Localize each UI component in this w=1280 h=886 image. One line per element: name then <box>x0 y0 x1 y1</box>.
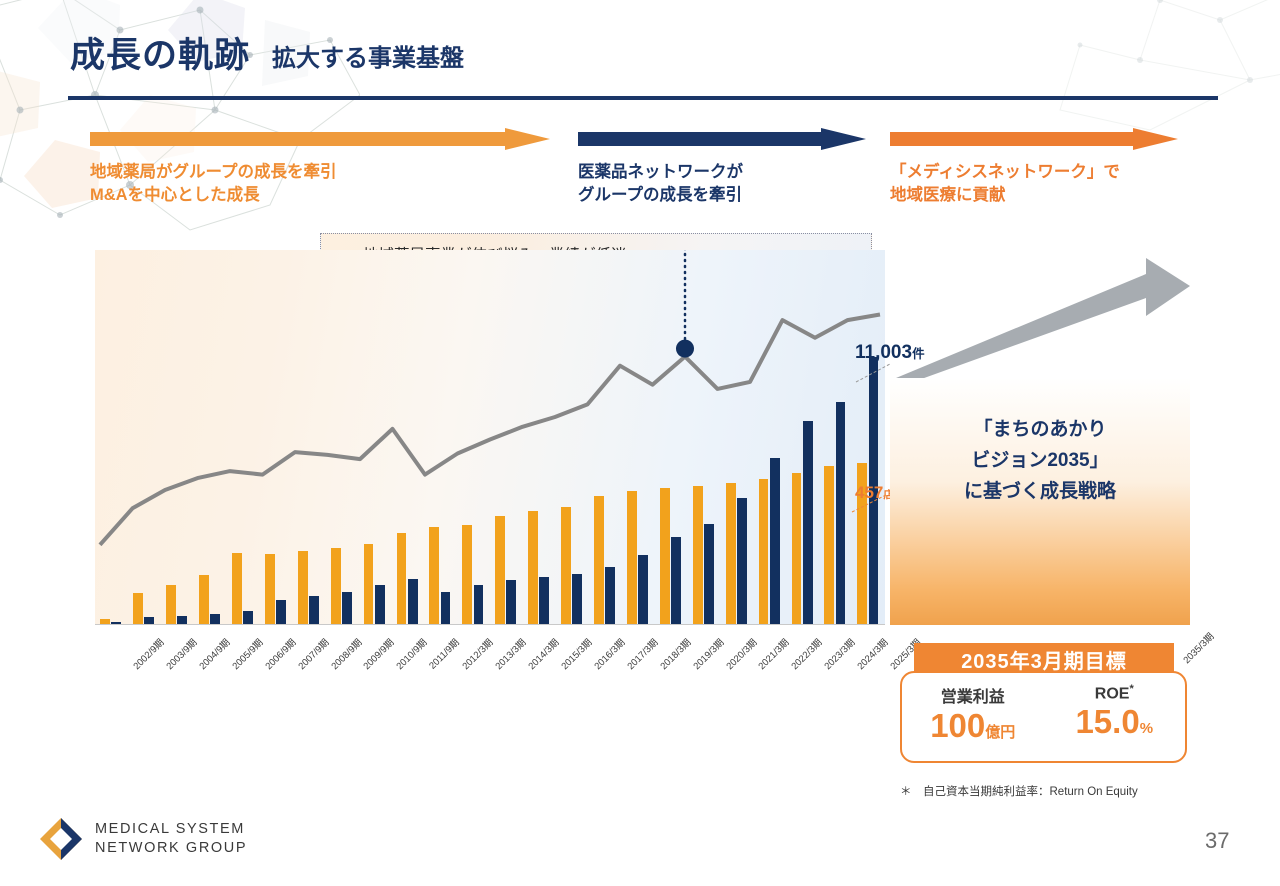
page-number: 37 <box>1205 828 1229 854</box>
x-axis-label: 2002/9期 <box>129 635 166 672</box>
target-metric-operating-profit: 営業利益 100億円 <box>902 673 1044 761</box>
x-axis-label: 2021/3期 <box>755 635 792 672</box>
x-axis-label: 2010/9期 <box>393 635 430 672</box>
x-axis-label: 2019/3期 <box>689 635 726 672</box>
x-axis-label: 2004/9期 <box>195 635 232 672</box>
x-axis-label: 2005/9期 <box>228 635 265 672</box>
x-axis-label: 2022/3期 <box>788 635 825 672</box>
decorative-network-pattern-right <box>1020 0 1280 140</box>
target-metric-asterisk: * <box>1129 683 1133 695</box>
diamond-logo-icon <box>38 816 84 862</box>
growth-chart <box>95 250 885 625</box>
page-title: 成長の軌跡 <box>70 38 250 73</box>
x-axis-label: 2024/3期 <box>853 635 890 672</box>
x-axis-label: 2023/3期 <box>821 635 858 672</box>
target-box: 2035年3月期目標 営業利益 100億円 ROE* 15.0% <box>900 643 1187 763</box>
page-header: 成長の軌跡 拡大する事業基盤 <box>70 38 464 73</box>
phase-block-3: 「メディシスネットワーク」で 地域医療に貢献 <box>890 128 1178 207</box>
target-metric-roe: ROE* 15.0% <box>1044 673 1186 761</box>
company-logo: MEDICAL SYSTEM NETWORK GROUP <box>38 816 247 862</box>
phase-label-3: 「メディシスネットワーク」で 地域医療に貢献 <box>890 161 1178 207</box>
x-axis-label: 2011/9期 <box>425 635 462 672</box>
phase-label-2: 医薬品ネットワークが グループの成長を牽引 <box>578 161 866 207</box>
x-axis-label: 2013/3期 <box>491 635 528 672</box>
x-axis-label: 2014/3期 <box>524 635 561 672</box>
phase-arrow-3 <box>890 128 1178 150</box>
x-axis-label: 2003/9期 <box>162 635 199 672</box>
target-footnote: ＊ 自己資本当期純利益率：Return On Equity <box>900 783 1138 799</box>
target-body: 営業利益 100億円 ROE* 15.0% <box>900 671 1187 763</box>
target-metric-unit: % <box>1140 720 1153 737</box>
x-axis-label: 2020/3期 <box>722 635 759 672</box>
phase-label-1: 地域薬局がグループの成長を牽引 M&Aを中心とした成長 <box>90 161 550 207</box>
x-axis-label: 2012/3期 <box>458 635 495 672</box>
target-metric-label: ROE* <box>1044 683 1186 703</box>
target-metric-number: 15.0 <box>1075 703 1139 740</box>
x-axis-label: 2009/9期 <box>360 635 397 672</box>
target-metric-value: 100億円 <box>902 709 1044 744</box>
growth-arrow-icon <box>888 250 1198 385</box>
slide-root: 成長の軌跡 拡大する事業基盤 地域薬局がグループの成長を牽引 M&Aを中心とした… <box>0 0 1280 886</box>
target-metric-label-text: ROE <box>1095 685 1130 702</box>
phase-arrow-2 <box>578 128 866 150</box>
target-metric-value: 15.0% <box>1044 705 1186 740</box>
chart-x-axis-labels: 2002/9期2003/9期2004/9期2005/9期2006/9期2007/… <box>95 629 885 689</box>
x-axis-label: 2017/3期 <box>623 635 660 672</box>
x-axis-label: 2015/3期 <box>557 635 594 672</box>
x-axis-label: 2008/9期 <box>327 635 364 672</box>
x-axis-label: 2016/3期 <box>590 635 627 672</box>
page-subtitle: 拡大する事業基盤 <box>272 47 464 73</box>
x-axis-label: 2006/9期 <box>261 635 298 672</box>
company-logo-text: MEDICAL SYSTEM NETWORK GROUP <box>95 820 247 858</box>
target-metric-number: 100 <box>930 707 985 744</box>
chart-x-axis <box>95 624 885 625</box>
line-series-operating-profit <box>95 250 885 625</box>
phase-arrow-1 <box>90 128 550 150</box>
phase-block-1: 地域薬局がグループの成長を牽引 M&Aを中心とした成長 <box>90 128 550 207</box>
x-axis-label: 2007/9期 <box>294 635 331 672</box>
header-divider <box>68 96 1218 100</box>
chart-plot-area <box>95 250 885 625</box>
phase-block-2: 医薬品ネットワークが グループの成長を牽引 <box>578 128 866 207</box>
vision-panel-text: 「まちのあかり ビジョン2035」 に基づく成長戦略 <box>890 415 1190 507</box>
x-axis-label: 2018/3期 <box>656 635 693 672</box>
target-metric-unit: 億円 <box>985 724 1015 741</box>
target-metric-label: 営業利益 <box>902 683 1044 707</box>
